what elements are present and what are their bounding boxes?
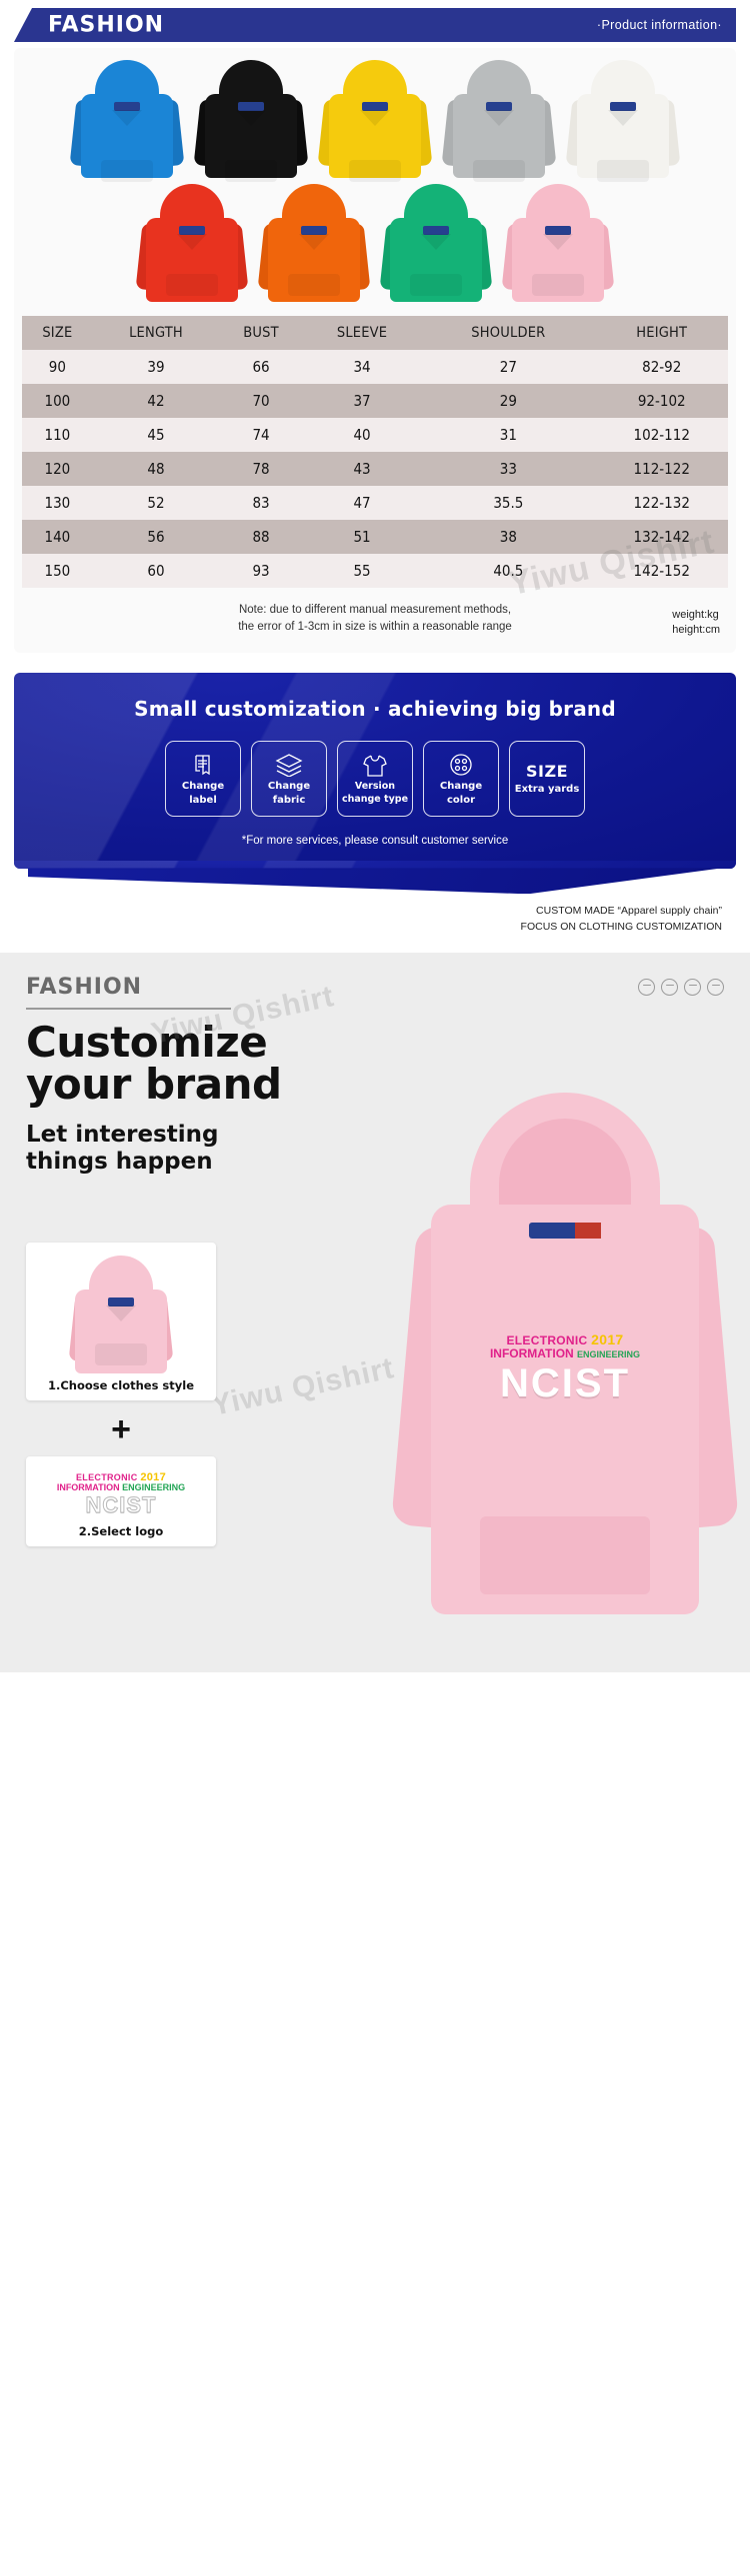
step-1-hoodie-image	[34, 1253, 208, 1372]
face-icon	[707, 979, 724, 996]
cell-shoulder: 35.5	[421, 486, 595, 520]
cell-bust: 83	[219, 486, 303, 520]
watermark: Yiwu Qishirt	[208, 1351, 397, 1423]
col-height: HEIGHT	[595, 316, 728, 350]
cell-shoulder: 27	[421, 350, 595, 384]
customize-headline-1: Customize	[26, 1022, 724, 1064]
face-icon	[638, 979, 655, 996]
cell-height: 122-132	[595, 486, 728, 520]
cell-length: 56	[93, 520, 220, 554]
label-tag-icon	[192, 752, 214, 778]
cell-size: 100	[22, 384, 93, 418]
customization-banner-section: Small customization · achieving big bran…	[0, 653, 750, 934]
logo-wordmark: NCIST	[34, 1493, 208, 1516]
banner-tail-shape	[28, 868, 722, 894]
steps-column: 1.Choose clothes style + ELECTRONIC 2017…	[26, 1243, 216, 1546]
cell-size: 150	[22, 554, 93, 588]
service-label-line2: label	[189, 795, 217, 806]
hoodie-row-1	[22, 58, 728, 188]
service-boxes: Change label Change fabric	[32, 741, 718, 817]
divider	[26, 1008, 231, 1010]
measurement-units: weight:kg height:cm	[672, 608, 720, 638]
cell-bust: 78	[219, 452, 303, 486]
cell-bust: 88	[219, 520, 303, 554]
cell-sleeve: 34	[303, 350, 421, 384]
cell-size: 140	[22, 520, 93, 554]
hoodie-neck-label	[529, 1223, 601, 1239]
cell-length: 39	[93, 350, 220, 384]
section-label: ·Product information·	[597, 18, 722, 32]
service-label-line1: Version	[355, 782, 395, 793]
cell-length: 60	[93, 554, 220, 588]
print-year: 2017	[591, 1331, 623, 1347]
cell-shoulder: 31	[421, 418, 595, 452]
cell-shoulder: 38	[421, 520, 595, 554]
service-label-line2: change type	[342, 795, 408, 806]
thumb-pink-hoodie	[66, 1254, 176, 1371]
step-2-card[interactable]: ELECTRONIC 2017 INFORMATION ENGINEERING …	[26, 1456, 216, 1546]
product-blue-hoodie[interactable]	[67, 58, 187, 188]
logo-line2-left: INFORMATION	[57, 1482, 120, 1492]
product-pink-hoodie[interactable]	[499, 182, 617, 302]
fabric-layers-icon	[275, 752, 303, 778]
cell-sleeve: 51	[303, 520, 421, 554]
cell-length: 42	[93, 384, 220, 418]
customize-eyebrow: FASHION	[26, 975, 724, 1000]
product-yellow-hoodie[interactable]	[315, 58, 435, 188]
note-line-2: the error of 1-3cm in size is within a r…	[22, 619, 728, 636]
print-line2-left: INFORMATION	[490, 1346, 574, 1360]
cell-height: 142-152	[595, 554, 728, 588]
main-pink-hoodie-image[interactable]: ELECTRONIC 2017 INFORMATION ENGINEERING …	[400, 1093, 730, 1652]
table-row: 110 45 74 40 31 102-112	[22, 418, 728, 452]
print-wordmark: NCIST	[465, 1362, 665, 1405]
step-2-caption: 2.Select logo	[34, 1524, 208, 1538]
section-header-band: FASHION ·Product information·	[14, 8, 736, 42]
color-palette-icon	[449, 752, 473, 778]
cell-sleeve: 43	[303, 452, 421, 486]
cell-sleeve: 55	[303, 554, 421, 588]
cell-sleeve: 37	[303, 384, 421, 418]
service-label-line1: SIZE	[526, 763, 568, 781]
service-label-line1: Change	[182, 781, 224, 792]
col-length: LENGTH	[93, 316, 220, 350]
service-box-version-change-type[interactable]: Version change type	[337, 741, 413, 817]
product-detail-page: FASHION ·Product information·	[0, 0, 750, 1672]
cell-bust: 93	[219, 554, 303, 588]
product-info-section: FASHION ·Product information·	[0, 0, 750, 653]
product-black-hoodie[interactable]	[191, 58, 311, 188]
table-row: 100 42 70 37 29 92-102	[22, 384, 728, 418]
cell-size: 120	[22, 452, 93, 486]
logo-line2-right: ENGINEERING	[122, 1482, 185, 1492]
print-line2-right: ENGINEERING	[577, 1349, 640, 1359]
measurement-note: Note: due to different manual measuremen…	[22, 602, 728, 635]
weight-unit: weight:kg	[672, 608, 720, 623]
cell-shoulder: 33	[421, 452, 595, 486]
service-box-change-fabric[interactable]: Change fabric	[251, 741, 327, 817]
cell-size: 110	[22, 418, 93, 452]
customize-brand-section: FASHION Customize your brand Let interes…	[0, 953, 750, 1672]
service-label-line2: color	[447, 795, 475, 806]
service-label-line2: Extra yards	[515, 784, 580, 795]
service-label-line1: Change	[440, 781, 482, 792]
caption-line-2: FOCUS ON CLOTHING CUSTOMIZATION	[14, 920, 722, 935]
table-row: 90 39 66 34 27 82-92	[22, 350, 728, 384]
logo-year: 2017	[140, 1471, 166, 1483]
banner-footnote: *For more services, please consult custo…	[32, 835, 718, 847]
cell-bust: 74	[219, 418, 303, 452]
col-bust: BUST	[219, 316, 303, 350]
brand-title: FASHION	[48, 13, 164, 38]
step-2-logo-image: ELECTRONIC 2017 INFORMATION ENGINEERING …	[34, 1466, 208, 1518]
cell-shoulder: 29	[421, 384, 595, 418]
product-card: weight:kg height:cm SIZE LENGTH BUST SLE…	[14, 48, 736, 653]
cell-shoulder: 40.5	[421, 554, 595, 588]
hoodie-pocket	[480, 1516, 650, 1594]
service-label-line2: fabric	[273, 795, 306, 806]
cell-length: 52	[93, 486, 220, 520]
table-header-row: SIZE LENGTH BUST SLEEVE SHOULDER HEIGHT	[22, 316, 728, 350]
cell-size: 130	[22, 486, 93, 520]
service-box-change-label[interactable]: Change label	[165, 741, 241, 817]
table-row: 150 60 93 55 40.5 142-152	[22, 554, 728, 588]
banner-title: Small customization · achieving big bran…	[32, 697, 718, 721]
face-icon	[661, 979, 678, 996]
face-icons	[638, 979, 724, 996]
cell-height: 112-122	[595, 452, 728, 486]
product-white-hoodie[interactable]	[563, 58, 683, 188]
cell-bust: 66	[219, 350, 303, 384]
cell-sleeve: 47	[303, 486, 421, 520]
table-row: 130 52 83 47 35.5 122-132	[22, 486, 728, 520]
cell-height: 82-92	[595, 350, 728, 384]
size-chart-table: SIZE LENGTH BUST SLEEVE SHOULDER HEIGHT …	[22, 316, 728, 588]
hoodie-print-artwork: ELECTRONIC 2017 INFORMATION ENGINEERING …	[465, 1332, 665, 1405]
cell-bust: 70	[219, 384, 303, 418]
service-label-line1: Change	[268, 781, 310, 792]
hoodie-row-2	[22, 182, 728, 302]
customization-banner: Small customization · achieving big bran…	[14, 673, 736, 869]
plus-symbol: +	[26, 1412, 216, 1446]
note-line-1: Note: due to different manual measuremen…	[22, 602, 728, 619]
product-orange-hoodie[interactable]	[255, 182, 373, 302]
face-icon	[684, 979, 701, 996]
service-box-size-extra-yards[interactable]: SIZE Extra yards	[509, 741, 585, 817]
step-1-caption: 1.Choose clothes style	[34, 1378, 208, 1392]
product-red-hoodie[interactable]	[133, 182, 251, 302]
table-row: 120 48 78 43 33 112-122	[22, 452, 728, 486]
cell-height: 102-112	[595, 418, 728, 452]
col-sleeve: SLEEVE	[303, 316, 421, 350]
cell-sleeve: 40	[303, 418, 421, 452]
print-line1-left: ELECTRONIC	[507, 1333, 588, 1347]
cell-size: 90	[22, 350, 93, 384]
service-box-change-color[interactable]: Change color	[423, 741, 499, 817]
table-row: 140 56 88 51 38 132-142	[22, 520, 728, 554]
logo-line1-left: ELECTRONIC	[76, 1472, 138, 1482]
cell-length: 45	[93, 418, 220, 452]
tshirt-icon	[362, 753, 388, 779]
col-size: SIZE	[22, 316, 93, 350]
step-1-card[interactable]: 1.Choose clothes style	[26, 1243, 216, 1400]
banner-caption: CUSTOM MADE “Apparel supply chain” FOCUS…	[14, 898, 736, 934]
caption-line-1: CUSTOM MADE “Apparel supply chain”	[14, 904, 722, 919]
cell-height: 132-142	[595, 520, 728, 554]
cell-length: 48	[93, 452, 220, 486]
col-shoulder: SHOULDER	[421, 316, 595, 350]
cell-height: 92-102	[595, 384, 728, 418]
product-green-hoodie[interactable]	[377, 182, 495, 302]
product-grey-hoodie[interactable]	[439, 58, 559, 188]
height-unit: height:cm	[672, 623, 720, 638]
banner-tail	[14, 868, 736, 898]
